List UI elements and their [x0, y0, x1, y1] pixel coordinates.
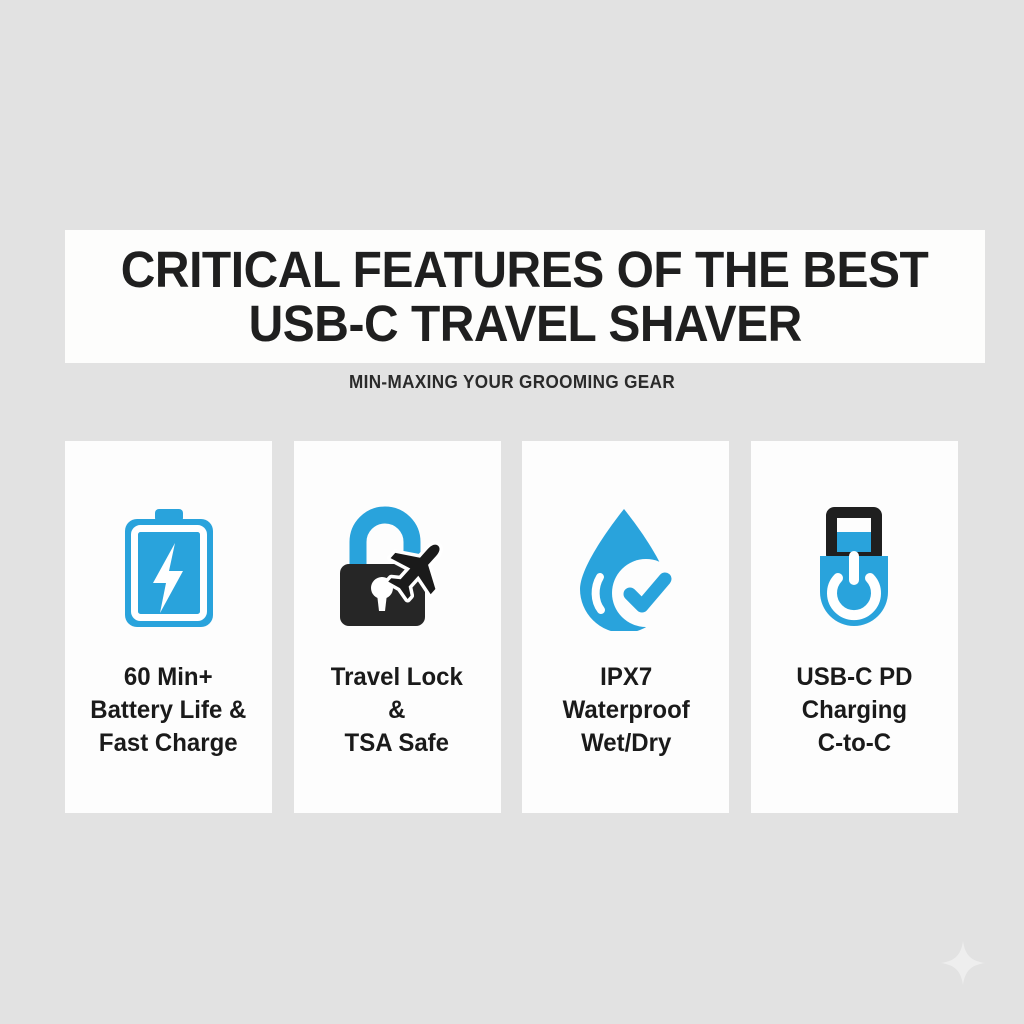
water-drop-check-icon [561, 503, 691, 633]
feature-line-1: USB-C PD [796, 661, 912, 694]
padlock-airplane-icon [332, 503, 462, 633]
feature-card-travel-lock: Travel Lock & TSA Safe [294, 441, 501, 813]
feature-line-3: C-to-C [796, 727, 912, 760]
header-banner: CRITICAL FEATURES OF THE BEST USB-C TRAV… [65, 230, 985, 363]
feature-line-1: IPX7 [562, 661, 689, 694]
feature-card-text: Travel Lock & TSA Safe [331, 661, 463, 760]
feature-card-text: IPX7 Waterproof Wet/Dry [562, 661, 689, 760]
feature-line-1: Travel Lock [331, 661, 463, 694]
feature-line-2: Battery Life & [90, 694, 246, 727]
feature-line-2: Charging [796, 694, 912, 727]
feature-card-usb-c: USB-C PD Charging C-to-C [751, 441, 958, 813]
feature-line-3: Fast Charge [90, 727, 246, 760]
feature-line-2: Waterproof [562, 694, 689, 727]
feature-card-text: 60 Min+ Battery Life & Fast Charge [90, 661, 246, 760]
page-subtitle: MIN-MAXING YOUR GROOMING GEAR [26, 372, 999, 393]
infographic-poster: CRITICAL FEATURES OF THE BEST USB-C TRAV… [0, 0, 1024, 1024]
feature-line-3: Wet/Dry [562, 727, 689, 760]
feature-card-battery: 60 Min+ Battery Life & Fast Charge [65, 441, 272, 813]
feature-card-text: USB-C PD Charging C-to-C [796, 661, 912, 760]
sparkle-icon [940, 940, 986, 986]
feature-card-grid: 60 Min+ Battery Life & Fast Charge [65, 441, 958, 813]
feature-line-1: 60 Min+ [90, 661, 246, 694]
battery-bolt-icon [104, 503, 234, 633]
feature-line-2: & [331, 694, 463, 727]
usb-c-power-icon [789, 503, 919, 633]
feature-line-3: TSA Safe [331, 727, 463, 760]
page-title-line-2: USB-C TRAVEL SHAVER [248, 296, 801, 352]
feature-card-waterproof: IPX7 Waterproof Wet/Dry [522, 441, 729, 813]
page-title-line-1: CRITICAL FEATURES OF THE BEST [121, 242, 929, 298]
